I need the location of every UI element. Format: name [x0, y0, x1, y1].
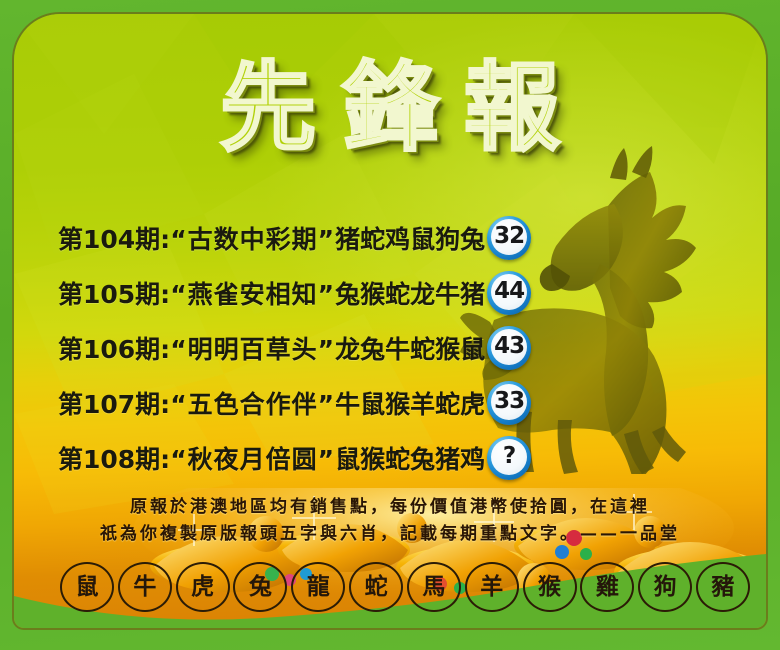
zodiac-label: 馬	[422, 576, 445, 599]
forecast-issue: 第107期:	[58, 390, 170, 419]
forecast-row: 第108期:“秋夜月倍圆”鼠猴蛇兔猪鸡 ?	[58, 430, 578, 485]
zodiac-snake[interactable]: 蛇	[349, 562, 403, 612]
zodiac-label: 蛇	[365, 576, 388, 599]
zodiac-strip: 鼠 牛 虎 兔 龍 蛇 馬 羊 猴 雞 狗 豬	[60, 562, 750, 612]
forecast-phrase: “明明百草头”	[170, 335, 335, 364]
zodiac-label: 牛	[133, 576, 156, 599]
forecast-issue: 第108期:	[58, 445, 170, 474]
lottery-ball: 33	[487, 381, 531, 425]
zodiac-label: 雞	[596, 576, 619, 599]
lottery-ball: 32	[487, 216, 531, 260]
zodiac-label: 龍	[307, 576, 330, 599]
forecast-text: 第106期:“明明百草头”龙兔牛蛇猴鼠	[58, 330, 485, 366]
forecast-row: 第105期:“燕雀安相知”兔猴蛇龙牛猪 44	[58, 265, 578, 320]
forecast-issue: 第106期:	[58, 335, 170, 364]
forecast-animals: 兔猴蛇龙牛猪	[335, 280, 485, 309]
lottery-ball: 44	[487, 271, 531, 315]
forecast-phrase: “古数中彩期”	[170, 225, 335, 254]
zodiac-dragon[interactable]: 龍	[291, 562, 345, 612]
forecast-text: 第104期:“古数中彩期”猪蛇鸡鼠狗兔	[58, 220, 485, 256]
zodiac-rabbit[interactable]: 兔	[233, 562, 287, 612]
zodiac-label: 猴	[538, 576, 561, 599]
zodiac-label: 豬	[711, 576, 734, 599]
lottery-poster: 先鋒報 第104期:“古数中彩期”猪蛇鸡鼠狗兔 32 第105期:“燕雀安相知”…	[0, 0, 780, 650]
zodiac-ox[interactable]: 牛	[118, 562, 172, 612]
ball-face: ?	[491, 439, 527, 475]
lottery-ball: 43	[487, 326, 531, 370]
forecast-animals: 牛鼠猴羊蛇虎	[335, 390, 485, 419]
forecast-phrase: “燕雀安相知”	[170, 280, 335, 309]
zodiac-label: 兔	[249, 576, 272, 599]
zodiac-dog[interactable]: 狗	[638, 562, 692, 612]
ball-face: 33	[491, 384, 527, 420]
forecast-animals: 龙兔牛蛇猴鼠	[335, 335, 485, 364]
ball-face: 43	[491, 329, 527, 365]
zodiac-goat[interactable]: 羊	[465, 562, 519, 612]
forecast-list: 第104期:“古数中彩期”猪蛇鸡鼠狗兔 32 第105期:“燕雀安相知”兔猴蛇龙…	[58, 210, 578, 485]
forecast-row: 第106期:“明明百草头”龙兔牛蛇猴鼠 43	[58, 320, 578, 375]
zodiac-label: 虎	[191, 576, 214, 599]
zodiac-pig[interactable]: 豬	[696, 562, 750, 612]
forecast-text: 第105期:“燕雀安相知”兔猴蛇龙牛猪	[58, 275, 485, 311]
ball-number: 32	[494, 225, 524, 248]
forecast-row: 第104期:“古数中彩期”猪蛇鸡鼠狗兔 32	[58, 210, 578, 265]
forecast-row: 第107期:“五色合作伴”牛鼠猴羊蛇虎 33	[58, 375, 578, 430]
zodiac-monkey[interactable]: 猴	[523, 562, 577, 612]
forecast-text: 第107期:“五色合作伴”牛鼠猴羊蛇虎	[58, 385, 485, 421]
zodiac-label: 羊	[480, 576, 503, 599]
zodiac-label: 鼠	[76, 576, 99, 599]
forecast-phrase: “秋夜月倍圆”	[170, 445, 335, 474]
forecast-phrase: “五色合作伴”	[170, 390, 335, 419]
ball-face: 32	[491, 219, 527, 255]
forecast-issue: 第104期:	[58, 225, 170, 254]
ball-number: 44	[494, 280, 524, 303]
ball-number: 33	[494, 390, 524, 413]
zodiac-rat[interactable]: 鼠	[60, 562, 114, 612]
forecast-animals: 鼠猴蛇兔猪鸡	[335, 445, 485, 474]
zodiac-rooster[interactable]: 雞	[580, 562, 634, 612]
ball-number: 43	[494, 335, 524, 358]
poster-panel: 先鋒報 第104期:“古数中彩期”猪蛇鸡鼠狗兔 32 第105期:“燕雀安相知”…	[14, 14, 766, 628]
zodiac-tiger[interactable]: 虎	[176, 562, 230, 612]
zodiac-label: 狗	[654, 576, 677, 599]
zodiac-horse[interactable]: 馬	[407, 562, 461, 612]
forecast-animals: 猪蛇鸡鼠狗兔	[335, 225, 485, 254]
forecast-issue: 第105期:	[58, 280, 170, 309]
lottery-ball: ?	[487, 436, 531, 480]
forecast-text: 第108期:“秋夜月倍圆”鼠猴蛇兔猪鸡	[58, 440, 485, 476]
ball-number: ?	[503, 445, 515, 468]
ball-face: 44	[491, 274, 527, 310]
